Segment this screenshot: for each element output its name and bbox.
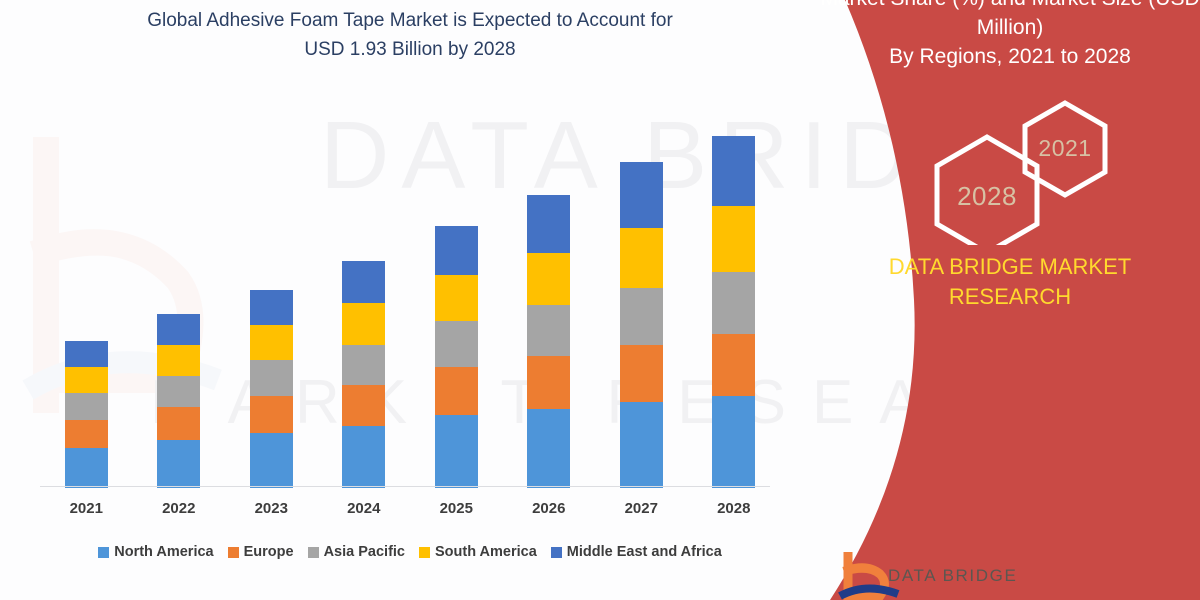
bar-2022 (157, 314, 200, 488)
chart-title-line1: Global Adhesive Foam Tape Market is Expe… (60, 6, 760, 35)
legend-label: North America (114, 544, 213, 560)
bar-segment-2028-south-america (712, 206, 755, 272)
bar-segment-2024-asia-pacific (342, 345, 385, 385)
bar-segment-2025-middle-east-and-africa (435, 226, 478, 274)
bar-2023 (250, 290, 293, 488)
chart-title: Global Adhesive Foam Tape Market is Expe… (60, 6, 760, 64)
chart-legend: North AmericaEuropeAsia PacificSouth Ame… (40, 540, 780, 564)
legend-item-middle-east-and-africa[interactable]: Middle East and Africa (551, 544, 722, 560)
x-axis-line (40, 486, 770, 487)
hexagon-outlines-icon (915, 95, 1145, 245)
bar-segment-2022-europe (157, 407, 200, 440)
legend-swatch-icon (551, 547, 562, 558)
x-tick-label-2021: 2021 (41, 500, 131, 517)
chart-title-line2: USD 1.93 Billion by 2028 (60, 35, 760, 64)
x-tick-label-2027: 2027 (596, 500, 686, 517)
bar-segment-2021-north-america (65, 448, 108, 488)
bar-2027 (620, 162, 663, 488)
legend-swatch-icon (228, 547, 239, 558)
bar-2024 (342, 261, 385, 488)
bar-segment-2022-north-america (157, 440, 200, 488)
legend-label: Europe (244, 544, 294, 560)
bar-segment-2026-asia-pacific (527, 305, 570, 356)
legend-swatch-icon (98, 547, 109, 558)
bar-segment-2021-south-america (65, 367, 108, 393)
bar-2026 (527, 195, 570, 488)
bar-segment-2028-middle-east-and-africa (712, 136, 755, 206)
bar-segment-2022-south-america (157, 345, 200, 376)
bar-segment-2028-north-america (712, 396, 755, 488)
bar-segment-2022-middle-east-and-africa (157, 314, 200, 345)
bar-segment-2024-middle-east-and-africa (342, 261, 385, 303)
legend-swatch-icon (419, 547, 430, 558)
x-tick-label-2026: 2026 (504, 500, 594, 517)
right-panel-heading: Market Share (%) and Market Size (USD Mi… (820, 0, 1200, 71)
bar-segment-2021-europe (65, 420, 108, 449)
bar-segment-2023-south-america (250, 325, 293, 360)
bar-segment-2023-north-america (250, 433, 293, 488)
bar-segment-2021-middle-east-and-africa (65, 341, 108, 367)
legend-label: South America (435, 544, 537, 560)
legend-label: Asia Pacific (324, 544, 405, 560)
legend-item-south-america[interactable]: South America (419, 544, 537, 560)
bar-segment-2025-asia-pacific (435, 321, 478, 367)
bar-segment-2027-middle-east-and-africa (620, 162, 663, 228)
right-panel-heading-line2: By Regions, 2021 to 2028 (820, 42, 1200, 71)
hexagon-label-2028: 2028 (947, 181, 1027, 212)
bar-segment-2027-north-america (620, 402, 663, 488)
bar-segment-2025-europe (435, 367, 478, 415)
bar-segment-2024-south-america (342, 303, 385, 345)
x-tick-label-2025: 2025 (411, 500, 501, 517)
bar-segment-2026-north-america (527, 409, 570, 488)
brand-name: DATA BRIDGE MARKET RESEARCH (855, 252, 1165, 312)
brand-name-line2: RESEARCH (855, 282, 1165, 312)
infographic-canvas: DATA BRIDGE MARKET RESEARCH Global Adhes… (0, 0, 1200, 600)
bar-segment-2023-middle-east-and-africa (250, 290, 293, 325)
legend-item-europe[interactable]: Europe (228, 544, 294, 560)
x-tick-label-2028: 2028 (689, 500, 779, 517)
bar-segment-2023-europe (250, 396, 293, 433)
stacked-bar-chart-plot-area (40, 100, 780, 488)
bar-2021 (65, 341, 108, 488)
brand-name-line1: DATA BRIDGE MARKET (889, 254, 1131, 279)
bar-2028 (712, 136, 755, 488)
bar-segment-2027-europe (620, 345, 663, 402)
bar-segment-2028-asia-pacific (712, 272, 755, 334)
x-axis-tick-labels: 20212022202320242025202620272028 (40, 500, 780, 526)
footer-logo-text: DATA BRIDGE (888, 566, 1017, 586)
legend-label: Middle East and Africa (567, 544, 722, 560)
legend-swatch-icon (308, 547, 319, 558)
bar-segment-2024-europe (342, 385, 385, 427)
right-panel-heading-line1: Market Share (%) and Market Size (USD Mi… (820, 0, 1200, 42)
bar-segment-2021-asia-pacific (65, 393, 108, 419)
bar-segment-2028-europe (712, 334, 755, 396)
x-tick-label-2024: 2024 (319, 500, 409, 517)
legend-item-asia-pacific[interactable]: Asia Pacific (308, 544, 405, 560)
legend-item-north-america[interactable]: North America (98, 544, 213, 560)
bar-segment-2026-south-america (527, 253, 570, 306)
hexagon-label-2021: 2021 (1025, 135, 1105, 162)
hexagon-group: 2021 2028 (915, 95, 1145, 245)
bar-segment-2025-south-america (435, 275, 478, 321)
bar-segment-2026-europe (527, 356, 570, 409)
x-tick-label-2023: 2023 (226, 500, 316, 517)
bar-segment-2023-asia-pacific (250, 360, 293, 395)
bar-segment-2025-north-america (435, 415, 478, 488)
bar-2025 (435, 226, 478, 488)
x-tick-label-2022: 2022 (134, 500, 224, 517)
bar-segment-2027-asia-pacific (620, 288, 663, 345)
bar-segment-2024-north-america (342, 426, 385, 488)
bar-segment-2022-asia-pacific (157, 376, 200, 407)
bar-segment-2027-south-america (620, 228, 663, 287)
bar-segment-2026-middle-east-and-africa (527, 195, 570, 252)
